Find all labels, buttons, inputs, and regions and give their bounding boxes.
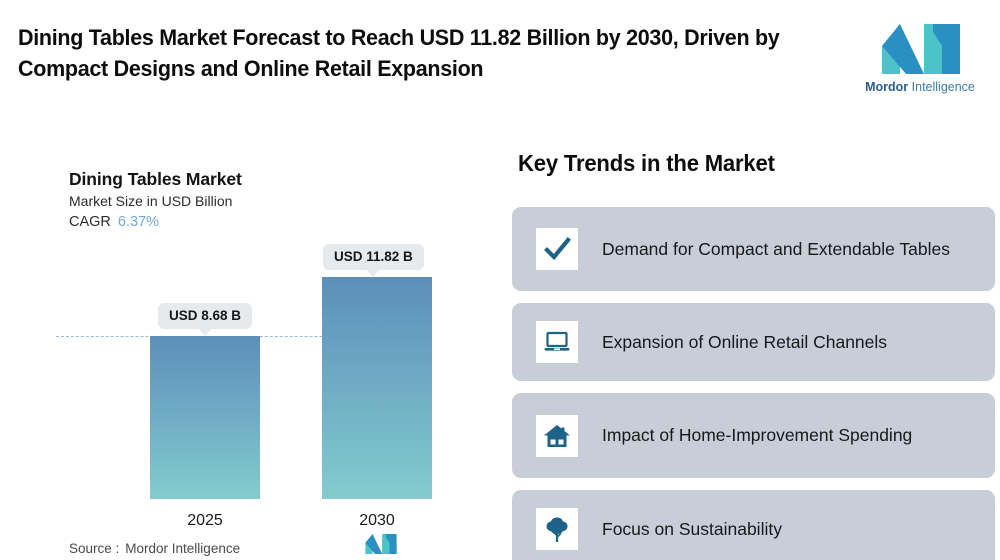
logo-word-intelligence: Intelligence [912, 80, 975, 94]
mordor-logo-wordmark: Mordor Intelligence [856, 80, 984, 94]
source-value: Mordor Intelligence [125, 541, 240, 556]
mordor-intelligence-logo-card: Mordor Intelligence [856, 6, 984, 124]
trend-card-demand-compact-tables[interactable]: Demand for Compact and Extendable Tables [512, 207, 995, 291]
chart-plot-area: USD 8.68 B USD 11.82 B 2025 2030 [53, 253, 420, 560]
trend-label: Expansion of Online Retail Channels [602, 330, 887, 355]
mordor-logo-icon-small [364, 534, 398, 554]
cagr-label: CAGR [69, 214, 111, 230]
x-axis-label-2030: 2030 [322, 512, 432, 530]
bar-2025 [150, 336, 260, 499]
value-badge-2030: USD 11.82 B [323, 244, 424, 270]
check-icon [536, 228, 578, 270]
page-title: Dining Tables Market Forecast to Reach U… [18, 22, 811, 84]
x-axis-label-2025: 2025 [150, 512, 260, 530]
chart-subtitle: Market Size in USD Billion [69, 193, 232, 209]
cagr-row: CAGR6.37% [69, 214, 159, 230]
chart-source: Source :Mordor Intelligence [69, 541, 240, 556]
trend-card-home-improvement[interactable]: Impact of Home-Improvement Spending [512, 393, 995, 478]
bar-2030 [322, 277, 432, 499]
source-label: Source : [69, 541, 119, 556]
trend-label: Focus on Sustainability [602, 517, 782, 542]
trend-label: Demand for Compact and Extendable Tables [602, 237, 950, 262]
mordor-logo-icon [880, 24, 962, 74]
trend-card-sustainability[interactable]: Focus on Sustainability [512, 490, 995, 560]
trend-label: Impact of Home-Improvement Spending [602, 423, 912, 448]
key-trends-heading: Key Trends in the Market [518, 150, 775, 177]
trend-card-online-retail[interactable]: Expansion of Online Retail Channels [512, 303, 995, 381]
laptop-icon [536, 321, 578, 363]
chart-title: Dining Tables Market [69, 169, 242, 190]
logo-word-mordor: Mordor [865, 80, 908, 94]
value-badge-2025: USD 8.68 B [158, 303, 252, 329]
house-icon [536, 415, 578, 457]
chart-card: Dining Tables Market Market Size in USD … [53, 158, 420, 560]
tree-icon [536, 508, 578, 550]
cagr-value: 6.37% [118, 214, 159, 230]
